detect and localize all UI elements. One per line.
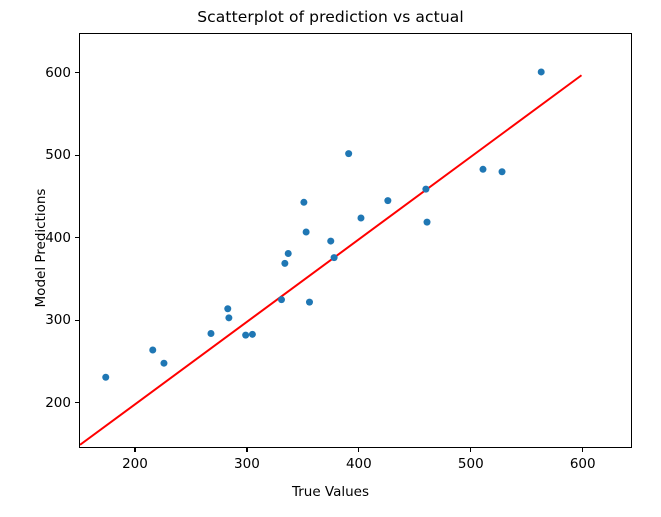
scatter-point — [424, 219, 431, 226]
scatter-point — [300, 199, 307, 206]
x-tick-mark — [582, 448, 583, 452]
scatter-point — [207, 330, 214, 337]
scatter-point — [422, 186, 429, 193]
scatter-point — [278, 296, 285, 303]
scatter-point — [357, 214, 364, 221]
x-tick-mark — [246, 448, 247, 452]
x-tick-mark — [470, 448, 471, 452]
x-tick-mark — [134, 448, 135, 452]
scatter-point — [303, 229, 310, 236]
scatter-point — [242, 332, 249, 339]
scatter-point — [331, 254, 338, 261]
scatter-point — [285, 250, 292, 257]
y-tick-mark — [75, 155, 79, 156]
scatter-point — [224, 305, 231, 312]
scatter-point — [479, 166, 486, 173]
trend-line — [80, 75, 582, 445]
scatter-point — [538, 68, 545, 75]
scatter-point — [281, 260, 288, 267]
scatter-point — [102, 374, 109, 381]
x-tick-label: 600 — [570, 456, 596, 472]
x-tick-mark — [358, 448, 359, 452]
y-tick-label: 200 — [33, 395, 71, 411]
identity-line — [80, 75, 582, 445]
y-tick-mark — [75, 320, 79, 321]
scatter-point — [306, 299, 313, 306]
x-tick-label: 300 — [234, 456, 260, 472]
scatter-point — [225, 314, 232, 321]
y-tick-mark — [75, 72, 79, 73]
scatterplot-figure: Scatterplot of prediction vs actual 2003… — [0, 0, 661, 517]
scatter-point — [327, 238, 334, 245]
plot-area — [79, 33, 632, 448]
scatter-point — [149, 346, 156, 353]
x-tick-label: 200 — [122, 456, 148, 472]
scatter-point — [345, 150, 352, 157]
y-axis-label: Model Predictions — [33, 128, 49, 368]
scatter-point — [249, 331, 256, 338]
chart-title: Scatterplot of prediction vs actual — [0, 8, 661, 26]
scatter-point — [160, 360, 167, 367]
x-tick-label: 500 — [458, 456, 484, 472]
x-axis-label: True Values — [0, 484, 661, 500]
y-tick-label: 600 — [33, 65, 71, 81]
data-layer — [80, 34, 632, 448]
scatter-point — [499, 168, 506, 175]
x-tick-label: 400 — [346, 456, 372, 472]
scatter-point — [384, 197, 391, 204]
y-tick-mark — [75, 402, 79, 403]
scatter-points — [102, 68, 544, 380]
y-tick-mark — [75, 237, 79, 238]
